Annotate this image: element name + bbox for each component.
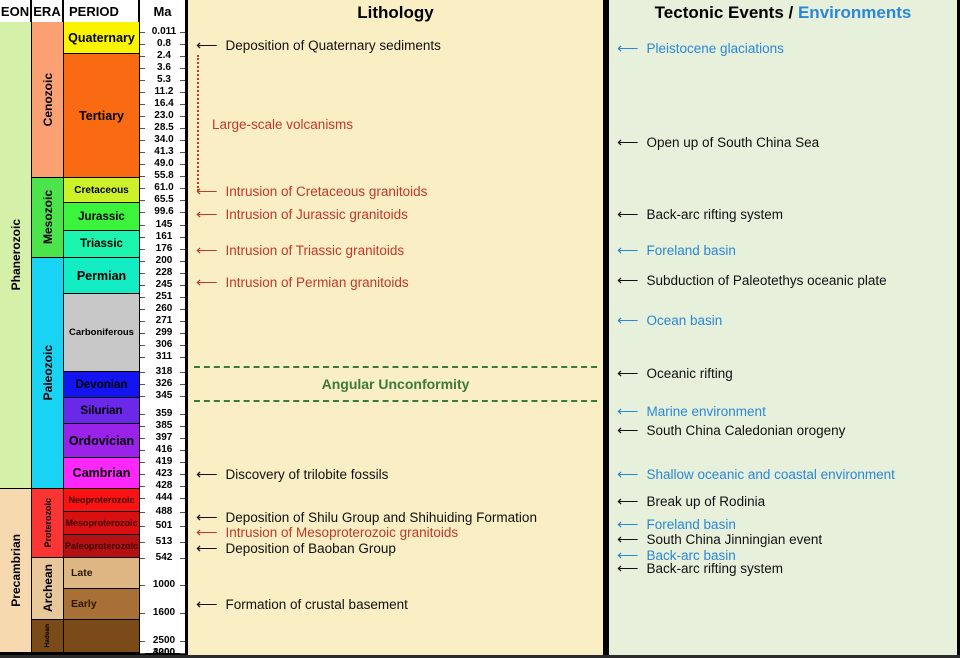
ma-tick-mark xyxy=(180,225,185,226)
arrow-left-icon: ⟵ xyxy=(617,517,639,532)
ma-tick-mark xyxy=(140,498,145,499)
lithology-event: ⟵Intrusion of Mesoproterozoic granitoids xyxy=(196,525,458,540)
ma-tick-mark xyxy=(140,333,145,334)
ma-tick-mark xyxy=(140,653,145,654)
eon-label: Phanerozoic xyxy=(9,219,23,290)
ma-tick-mark xyxy=(140,474,145,475)
eon-cell: Phanerozoic xyxy=(0,22,32,489)
arrow-left-icon: ⟵ xyxy=(617,404,639,419)
ma-tick-mark xyxy=(180,249,185,250)
ma-tick-mark xyxy=(140,44,145,45)
arrow-left-icon: ⟵ xyxy=(196,184,218,199)
lithology-event: ⟵Discovery of trilobite fossils xyxy=(196,467,388,482)
period-cell: Paleoproterozoic xyxy=(64,535,140,558)
lithology-panel: Lithology ⟵Deposition of Quaternary sedi… xyxy=(188,0,606,655)
period-label: Late xyxy=(64,567,93,579)
tectonic-event-label: Ocean basin xyxy=(647,314,723,328)
ma-tick-mark xyxy=(180,462,185,463)
period-cell: Silurian xyxy=(64,398,140,424)
era-cell: Mesozoic xyxy=(32,178,64,258)
ma-tick-mark xyxy=(140,450,145,451)
lithology-event-label: Deposition of Shilu Group and Shihuiding… xyxy=(226,511,537,525)
tectonic-event-label: Pleistocene glaciations xyxy=(647,42,784,56)
era-column: CenozoicMesozoicPaleozoicProterozoicArch… xyxy=(32,22,64,653)
ma-tick-mark xyxy=(180,68,185,69)
tectonic-event: ⟵Foreland basin xyxy=(617,517,736,532)
era-label: Hadean xyxy=(44,624,51,647)
era-label: Proterozoic xyxy=(43,498,53,548)
tectonic-event-label: South China Caledonian orogeny xyxy=(647,424,846,438)
ma-tick-mark xyxy=(180,321,185,322)
arrow-left-icon: ⟵ xyxy=(196,243,218,258)
period-cell: Devonian xyxy=(64,372,140,398)
ma-tick-mark xyxy=(180,426,185,427)
geologic-time-chart: EON ERA PERIOD Ma PhanerozoicPrecambrian… xyxy=(0,0,960,655)
arrow-left-icon: ⟵ xyxy=(617,41,639,56)
period-cell xyxy=(64,620,140,653)
ma-tick-mark xyxy=(140,426,145,427)
lithology-event: ⟵Intrusion of Permian granitoids xyxy=(196,275,409,290)
ma-tick-mark xyxy=(140,285,145,286)
arrow-left-icon: ⟵ xyxy=(617,273,639,288)
ma-tick-mark xyxy=(140,372,145,373)
header-period: PERIOD xyxy=(64,0,140,22)
ma-tick-mark xyxy=(140,56,145,57)
lithology-event-label: Intrusion of Mesoproterozoic granitoids xyxy=(226,526,459,540)
volcanism-duration-line xyxy=(197,55,199,191)
lithology-event: ⟵Deposition of Shilu Group and Shihuidin… xyxy=(196,510,537,525)
tectonic-event-label: South China Jinningian event xyxy=(647,533,823,547)
ma-tick-mark xyxy=(140,225,145,226)
ma-tick-mark xyxy=(140,297,145,298)
ma-tick-mark xyxy=(140,212,145,213)
lithology-event: ⟵Deposition of Quaternary sediments xyxy=(196,38,441,53)
tectonic-event: ⟵Back-arc rifting system xyxy=(617,561,783,576)
ma-tick-mark xyxy=(140,104,145,105)
arrow-left-icon: ⟵ xyxy=(196,275,218,290)
tectonic-panel: Tectonic Events / Environments ⟵Pleistoc… xyxy=(609,0,957,655)
lithology-event-label: Deposition of Baoban Group xyxy=(226,542,396,556)
ma-tick-mark xyxy=(180,396,185,397)
arrow-left-icon: ⟵ xyxy=(617,494,639,509)
ma-tick-mark xyxy=(180,212,185,213)
ma-tick-mark xyxy=(180,450,185,451)
header-era: ERA xyxy=(32,0,64,22)
arrow-left-icon: ⟵ xyxy=(196,541,218,556)
ma-tick-mark xyxy=(180,414,185,415)
ma-tick-mark xyxy=(180,474,185,475)
lithology-event-label: Deposition of Quaternary sediments xyxy=(226,39,441,53)
ma-tick-mark xyxy=(140,384,145,385)
ma-tick-mark xyxy=(140,438,145,439)
tectonic-title-environments: Environments xyxy=(798,3,911,22)
tectonic-event-label: Oceanic rifting xyxy=(647,367,733,381)
ma-tick-mark xyxy=(180,357,185,358)
ma-tick-mark xyxy=(180,116,185,117)
period-cell: Carboniferous xyxy=(64,294,140,372)
ma-tick-mark xyxy=(140,200,145,201)
unconformity-label: Angular Unconformity xyxy=(188,376,603,392)
ma-tick-mark xyxy=(180,273,185,274)
arrow-left-icon: ⟵ xyxy=(196,525,218,540)
ma-tick-mark xyxy=(180,200,185,201)
tectonic-event: ⟵Shallow oceanic and coastal environment xyxy=(617,467,895,482)
unconformity-line-top xyxy=(194,366,597,368)
ma-tick-mark xyxy=(140,237,145,238)
tectonic-event: ⟵Break up of Rodinia xyxy=(617,494,765,509)
lithology-event-label: Intrusion of Cretaceous granitoids xyxy=(226,185,428,199)
tectonic-title: Tectonic Events / Environments xyxy=(609,3,957,23)
period-cell: Ordovician xyxy=(64,424,140,458)
arrow-left-icon: ⟵ xyxy=(196,597,218,612)
ma-tick-mark xyxy=(180,285,185,286)
lithology-event: Large-scale volcanisms xyxy=(212,118,353,132)
ma-tick-mark xyxy=(180,526,185,527)
period-cell: Tertiary xyxy=(64,54,140,178)
period-label: Jurassic xyxy=(78,211,125,223)
lithology-event-label: Discovery of trilobite fossils xyxy=(226,468,389,482)
ma-tick-mark xyxy=(140,164,145,165)
period-label: Devonian xyxy=(76,379,128,391)
arrow-left-icon: ⟵ xyxy=(617,135,639,150)
ma-tick-mark xyxy=(140,512,145,513)
tectonic-event: ⟵Foreland basin xyxy=(617,243,736,258)
ma-tick-mark xyxy=(180,128,185,129)
ma-tick-mark xyxy=(180,188,185,189)
period-label: Tertiary xyxy=(79,109,124,123)
arrow-left-icon: ⟵ xyxy=(617,467,639,482)
tectonic-event-label: Subduction of Paleotethys oceanic plate xyxy=(647,274,887,288)
ma-tick-mark xyxy=(180,32,185,33)
lithology-event: ⟵Intrusion of Triassic granitoids xyxy=(196,243,404,258)
header-eon: EON xyxy=(0,0,32,22)
lithology-event: ⟵Intrusion of Jurassic granitoids xyxy=(196,207,408,222)
tectonic-event-label: Back-arc rifting system xyxy=(647,562,784,576)
period-label: Paleoproterozoic xyxy=(65,541,138,551)
ma-tick-mark xyxy=(140,68,145,69)
period-label: Mesoproterozoic xyxy=(65,518,137,528)
ma-tick-mark xyxy=(140,414,145,415)
period-label: Triassic xyxy=(80,238,123,250)
ma-tick-mark xyxy=(140,80,145,81)
tectonic-event: ⟵South China Caledonian orogeny xyxy=(617,423,845,438)
period-cell: Triassic xyxy=(64,231,140,258)
period-label: Neoproterozoic xyxy=(68,495,134,505)
ma-tick-mark xyxy=(140,396,145,397)
period-cell: Jurassic xyxy=(64,203,140,231)
ma-tick-mark xyxy=(140,152,145,153)
ma-tick-mark xyxy=(180,297,185,298)
arrow-left-icon: ⟵ xyxy=(617,243,639,258)
ma-tick-mark xyxy=(140,345,145,346)
tectonic-event: ⟵Marine environment xyxy=(617,404,766,419)
ma-tick-mark xyxy=(140,613,145,614)
ma-tick-mark xyxy=(180,309,185,310)
era-cell: Paleozoic xyxy=(32,258,64,489)
ma-tick-mark xyxy=(140,249,145,250)
ma-tick-mark xyxy=(140,486,145,487)
ma-tick-mark xyxy=(180,486,185,487)
ma-tick-mark xyxy=(140,140,145,141)
era-label: Cenozoic xyxy=(41,73,55,126)
ma-tick-mark xyxy=(140,641,145,642)
ma-tick-mark xyxy=(180,164,185,165)
ma-tick-mark xyxy=(140,357,145,358)
period-label: Cambrian xyxy=(73,466,131,480)
ma-tick-mark xyxy=(140,321,145,322)
ma-tick-mark xyxy=(180,80,185,81)
ma-tick-mark xyxy=(140,92,145,93)
eon-label: Precambrian xyxy=(9,534,23,607)
header-ma: Ma xyxy=(140,0,188,22)
lithology-event-label: Large-scale volcanisms xyxy=(212,118,353,132)
period-label: Permian xyxy=(77,269,126,283)
unconformity-line-bottom xyxy=(194,400,597,402)
ma-tick-mark xyxy=(140,309,145,310)
lithology-event-label: Intrusion of Jurassic granitoids xyxy=(226,208,408,222)
tectonic-event: ⟵Back-arc rifting system xyxy=(617,207,783,222)
period-cell: Permian xyxy=(64,258,140,294)
arrow-left-icon: ⟵ xyxy=(196,467,218,482)
period-cell: Late xyxy=(64,558,140,589)
arrow-left-icon: ⟵ xyxy=(617,532,639,547)
ma-tick-mark xyxy=(180,542,185,543)
ma-tick-mark xyxy=(180,345,185,346)
tectonic-event-label: Open up of South China Sea xyxy=(647,136,820,150)
ma-tick-mark xyxy=(180,384,185,385)
period-cell: Early xyxy=(64,589,140,620)
ma-tick-mark xyxy=(180,512,185,513)
lithology-event-label: Formation of crustal basement xyxy=(226,598,408,612)
tectonic-event-label: Foreland basin xyxy=(647,244,736,258)
tectonic-event: ⟵Subduction of Paleotethys oceanic plate xyxy=(617,273,887,288)
ma-tick-mark xyxy=(140,462,145,463)
era-label: Paleozoic xyxy=(41,345,55,400)
era-cell: Proterozoic xyxy=(32,489,64,558)
arrow-left-icon: ⟵ xyxy=(617,366,639,381)
ma-tick-mark xyxy=(180,641,185,642)
ma-tick-mark xyxy=(180,558,185,559)
period-label: Ordovician xyxy=(69,434,134,448)
ma-tick-mark xyxy=(140,261,145,262)
tectonic-event-label: Marine environment xyxy=(647,405,766,419)
lithology-event: ⟵Intrusion of Cretaceous granitoids xyxy=(196,184,427,199)
ma-tick-mark xyxy=(180,438,185,439)
arrow-left-icon: ⟵ xyxy=(196,38,218,53)
ma-tick-mark xyxy=(180,56,185,57)
era-cell: Archean xyxy=(32,558,64,620)
lithology-event: ⟵Deposition of Baoban Group xyxy=(196,541,396,556)
tectonic-event: ⟵South China Jinningian event xyxy=(617,532,822,547)
ma-tick-mark xyxy=(140,585,145,586)
period-cell: Cretaceous xyxy=(64,178,140,203)
ma-tick-mark xyxy=(140,32,145,33)
eon-column: PhanerozoicPrecambrian xyxy=(0,22,32,653)
arrow-left-icon: ⟵ xyxy=(617,423,639,438)
tectonic-title-events: Tectonic Events xyxy=(655,3,784,22)
era-cell: Hadean xyxy=(32,620,64,653)
lithology-title: Lithology xyxy=(188,3,603,23)
tectonic-event-label: Shallow oceanic and coastal environment xyxy=(647,468,895,482)
ma-tick-mark xyxy=(180,44,185,45)
arrow-left-icon: ⟵ xyxy=(617,561,639,576)
period-cell: Mesoproterozoic xyxy=(64,512,140,535)
period-cell: Neoproterozoic xyxy=(64,489,140,512)
ma-tick-mark xyxy=(180,92,185,93)
era-label: Mesozoic xyxy=(41,190,55,244)
ma-tick-mark xyxy=(180,140,185,141)
arrow-left-icon: ⟵ xyxy=(196,510,218,525)
period-cell: Quaternary xyxy=(64,22,140,54)
tectonic-event: ⟵Ocean basin xyxy=(617,313,722,328)
ma-tick-mark xyxy=(140,188,145,189)
lithology-event: ⟵Formation of crustal basement xyxy=(196,597,408,612)
period-column: QuaternaryTertiaryCretaceousJurassicTria… xyxy=(64,22,140,653)
ma-tick-mark xyxy=(180,237,185,238)
ma-tick-mark xyxy=(180,176,185,177)
ma-scale-column: 0.0110.82.43.65.311.216.423.028.534.041.… xyxy=(140,22,188,653)
period-label: Cretaceous xyxy=(74,185,128,196)
lithology-event-label: Intrusion of Triassic granitoids xyxy=(226,244,405,258)
eon-cell: Precambrian xyxy=(0,489,32,653)
ma-tick-mark xyxy=(140,273,145,274)
period-label: Carboniferous xyxy=(69,327,134,338)
ma-tick-mark xyxy=(140,128,145,129)
ma-tick-mark xyxy=(140,526,145,527)
ma-tick-mark xyxy=(180,653,185,654)
ma-tick-mark xyxy=(180,152,185,153)
ma-tick-mark xyxy=(180,585,185,586)
ma-tick-mark xyxy=(180,613,185,614)
ma-tick-mark xyxy=(140,176,145,177)
arrow-left-icon: ⟵ xyxy=(196,207,218,222)
era-cell: Cenozoic xyxy=(32,22,64,178)
ma-tick-mark xyxy=(180,104,185,105)
tectonic-event-label: Foreland basin xyxy=(647,518,736,532)
arrow-left-icon: ⟵ xyxy=(617,207,639,222)
tectonic-title-separator: / xyxy=(784,3,798,22)
arrow-left-icon: ⟵ xyxy=(617,313,639,328)
period-label: Quaternary xyxy=(68,31,135,45)
ma-tick-mark xyxy=(180,372,185,373)
tectonic-event-label: Back-arc rifting system xyxy=(647,208,784,222)
ma-tick-mark xyxy=(140,116,145,117)
tectonic-event-label: Break up of Rodinia xyxy=(647,495,766,509)
tectonic-event: ⟵Open up of South China Sea xyxy=(617,135,819,150)
era-label: Archean xyxy=(41,564,55,612)
ma-tick-mark xyxy=(140,542,145,543)
ma-tick-mark xyxy=(140,558,145,559)
period-label: Silurian xyxy=(80,405,122,417)
ma-tick-mark xyxy=(180,333,185,334)
lithology-event-label: Intrusion of Permian granitoids xyxy=(226,276,409,290)
period-cell: Cambrian xyxy=(64,458,140,489)
ma-tick-mark xyxy=(180,498,185,499)
tectonic-event: ⟵Pleistocene glaciations xyxy=(617,41,784,56)
tectonic-event: ⟵Oceanic rifting xyxy=(617,366,733,381)
ma-tick-mark xyxy=(180,261,185,262)
period-label: Early xyxy=(64,598,97,610)
